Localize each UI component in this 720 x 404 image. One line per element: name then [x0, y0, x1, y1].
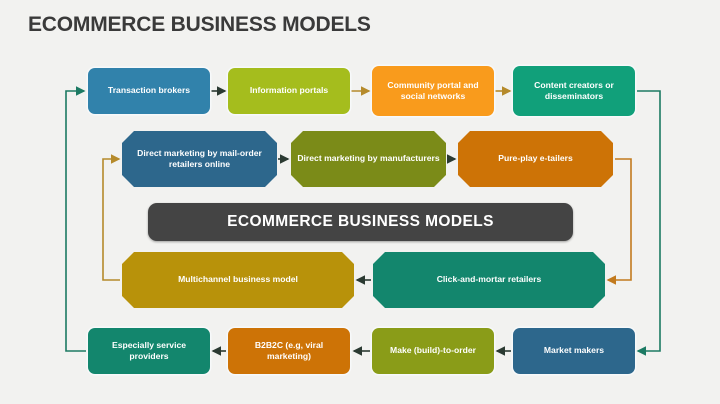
node-direct-marketing-by-manufacturers[interactable]: Direct marketing by manufacturers — [291, 131, 446, 187]
node-especially-service-providers[interactable]: Especially service providers — [88, 328, 210, 374]
diagram-canvas: ECOMMERCE BUSINESS MODELS — [0, 0, 720, 404]
node-label: Content creators or disseminators — [519, 80, 629, 103]
wire-contentcreators-to-marketmakers — [637, 91, 660, 351]
node-label: Market makers — [519, 345, 629, 356]
node-label: Community portal and social networks — [378, 80, 488, 103]
node-click-and-mortar-retailers[interactable]: Click-and-mortar retailers — [373, 252, 605, 308]
node-multichannel-business-model[interactable]: Multichannel business model — [122, 252, 354, 308]
wire-serviceproviders-to-transactionbrokers — [66, 91, 86, 351]
node-community-portal-and-social-networks[interactable]: Community portal and social networks — [372, 66, 494, 116]
node-b2b2c-viral-marketing[interactable]: B2B2C (e.g, viral marketing) — [228, 328, 350, 374]
node-label: Information portals — [234, 85, 344, 96]
node-label: Pure-play e-tailers — [464, 153, 607, 164]
wire-pureplay-to-clickmortar — [608, 159, 631, 280]
node-label: Transaction brokers — [94, 85, 204, 96]
node-information-portals[interactable]: Information portals — [228, 68, 350, 114]
node-make-build-to-order[interactable]: Make (build)-to-order — [372, 328, 494, 374]
node-label: Click-and-mortar retailers — [379, 274, 599, 285]
node-label: Direct marketing by mail-order retailers… — [128, 148, 271, 171]
node-market-makers[interactable]: Market makers — [513, 328, 635, 374]
center-banner-label: ECOMMERCE BUSINESS MODELS — [227, 213, 494, 231]
node-label: B2B2C (e.g, viral marketing) — [234, 340, 344, 363]
node-transaction-brokers[interactable]: Transaction brokers — [88, 68, 210, 114]
node-label: Multichannel business model — [128, 274, 348, 285]
node-label: Make (build)-to-order — [378, 345, 488, 356]
wire-multichannel-to-mailorder — [103, 159, 120, 280]
node-content-creators-or-disseminators[interactable]: Content creators or disseminators — [513, 66, 635, 116]
center-banner: ECOMMERCE BUSINESS MODELS — [148, 203, 573, 241]
node-direct-marketing-mail-order[interactable]: Direct marketing by mail-order retailers… — [122, 131, 277, 187]
node-pure-play-e-tailers[interactable]: Pure-play e-tailers — [458, 131, 613, 187]
node-label: Direct marketing by manufacturers — [297, 153, 440, 164]
node-label: Especially service providers — [94, 340, 204, 363]
